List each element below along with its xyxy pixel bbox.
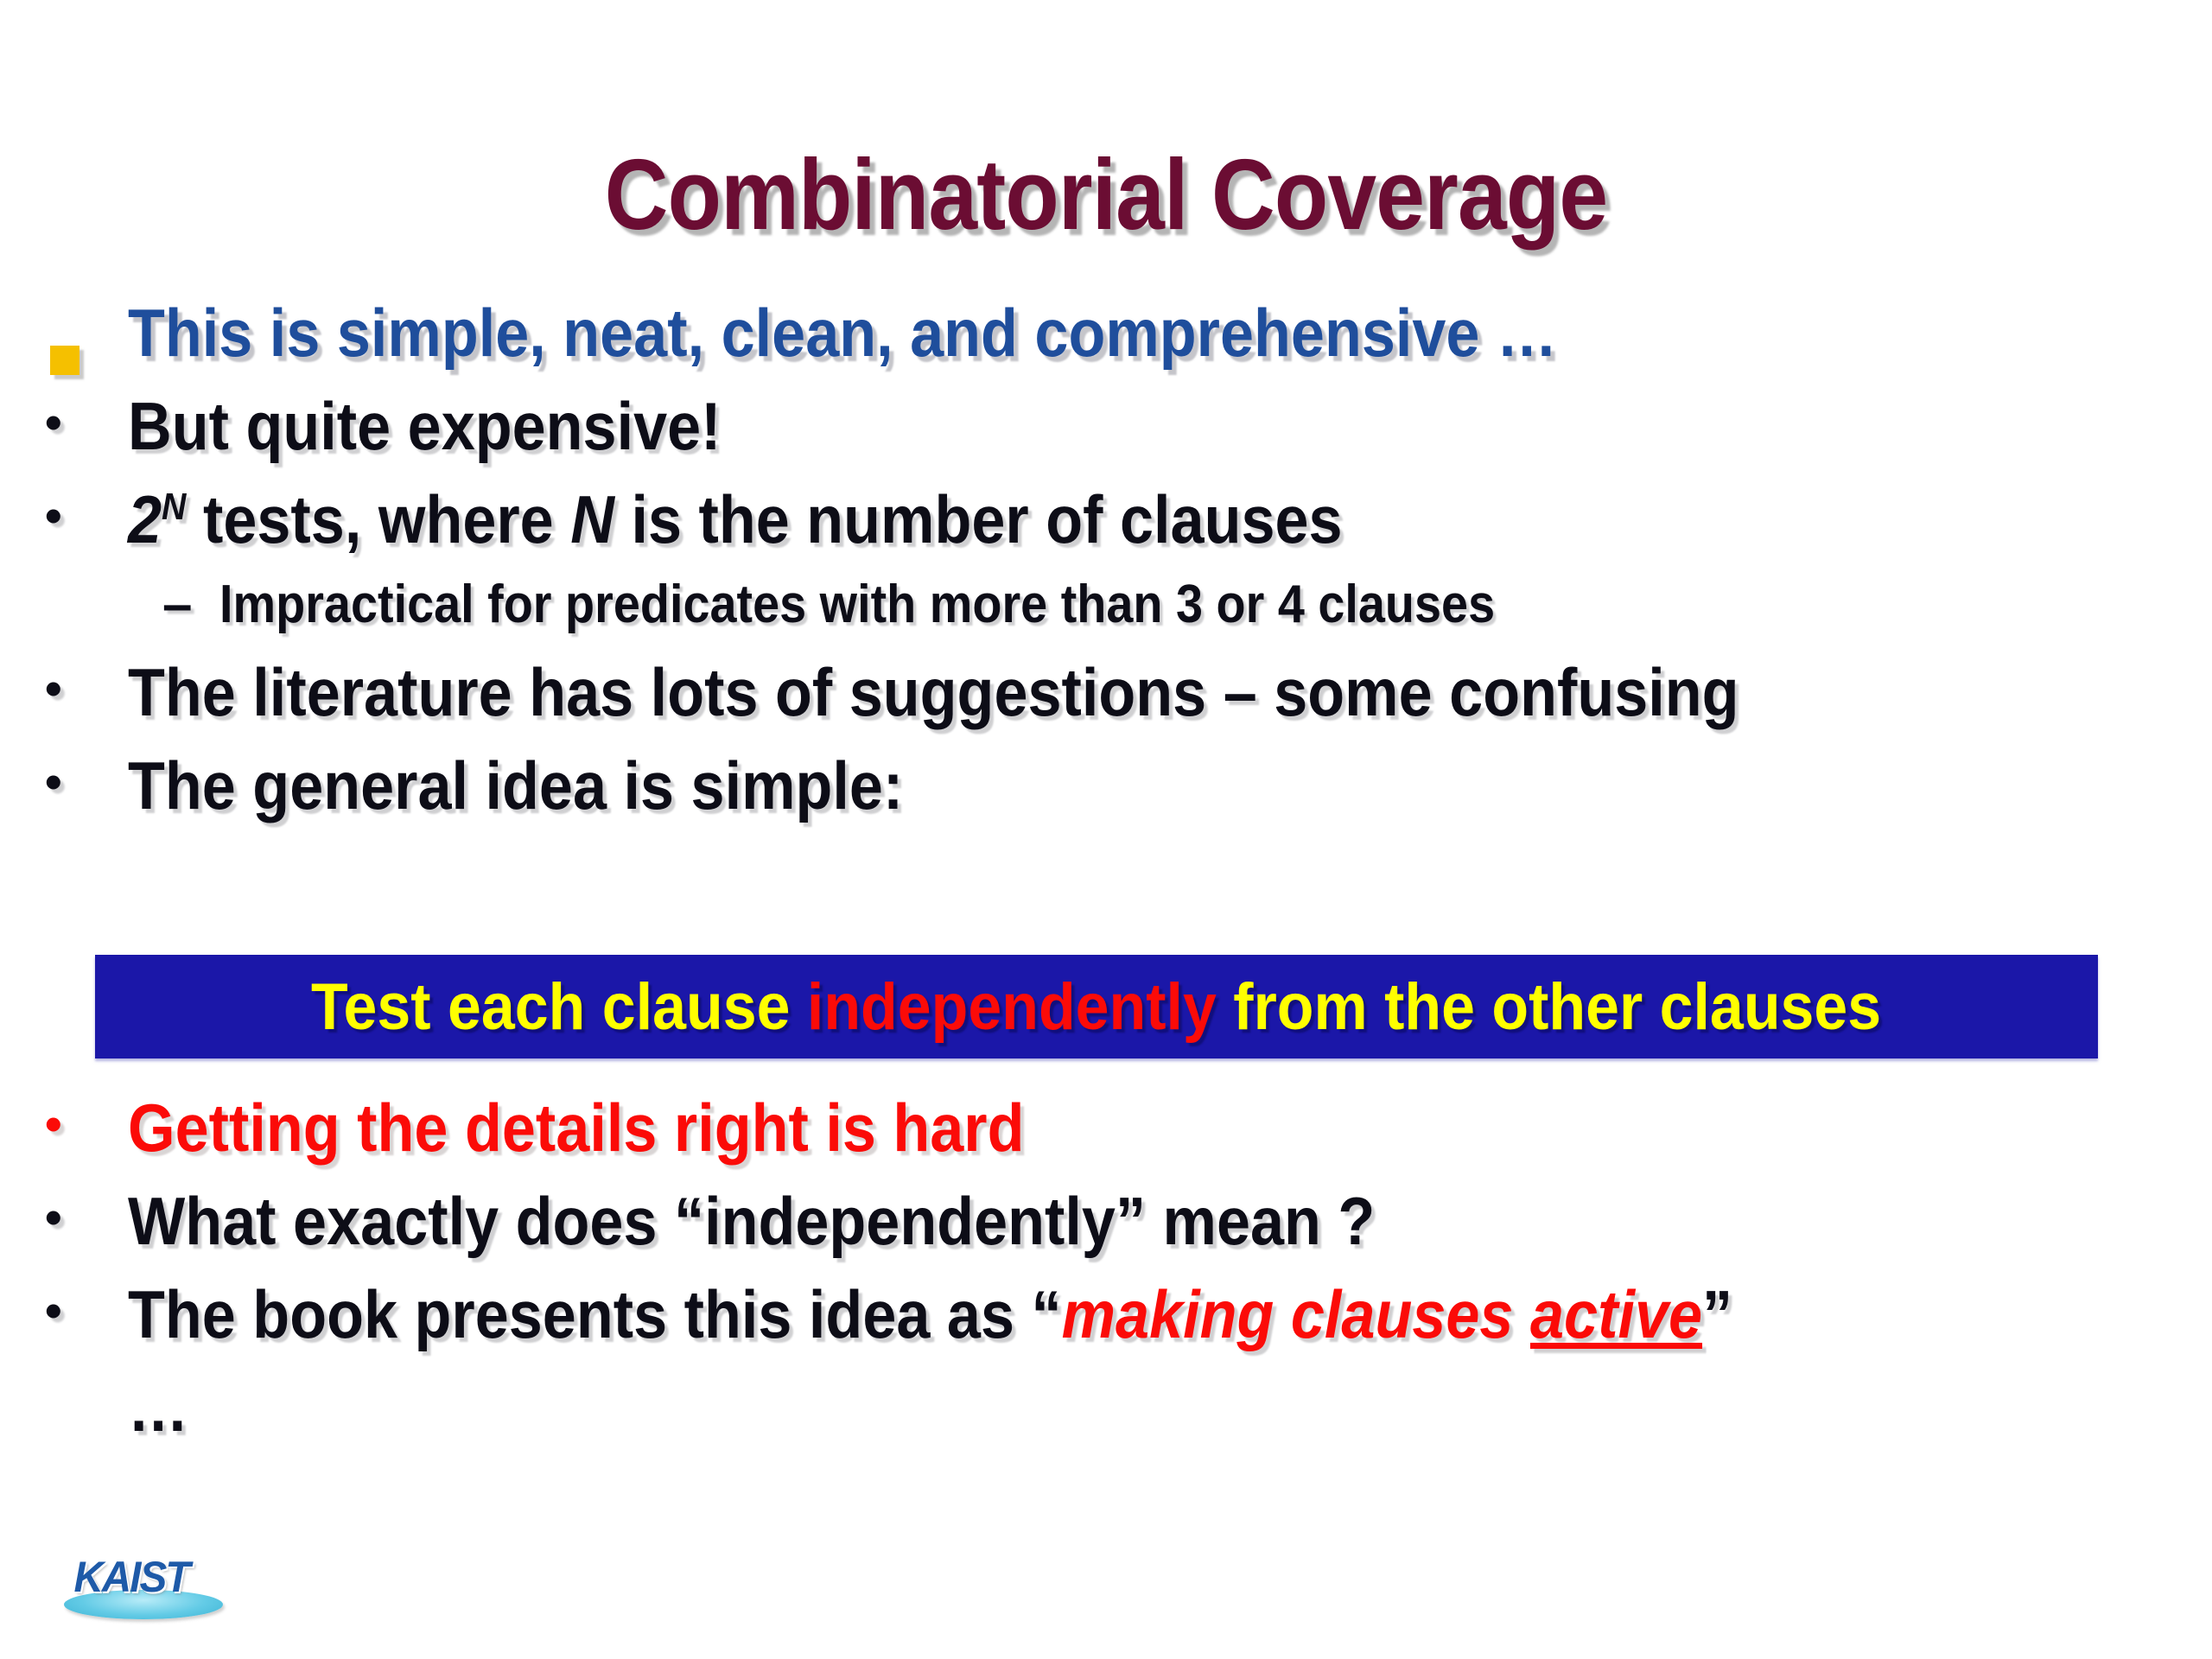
book-prefix: The book presents this idea as “ <box>128 1276 1062 1352</box>
dash-bullet-icon: – <box>162 574 219 635</box>
round-bullet-icon: • <box>45 1101 128 1147</box>
bullet-expensive: • But quite expensive! <box>0 387 2212 480</box>
round-bullet-icon: • <box>45 1287 128 1333</box>
bullet-impractical: – Impractical for predicates with more t… <box>0 574 2212 653</box>
slide-canvas: Combinatorial Coverage This is simple, n… <box>0 0 2212 1659</box>
callout-suffix: from the other clauses <box>1217 970 1881 1044</box>
tests-mid: tests, where <box>186 481 570 557</box>
bullet-details-hard: • Getting the details right is hard <box>0 1089 2212 1182</box>
bullet-tests-count-label: 2N tests, where N is the number of claus… <box>128 480 1343 559</box>
page-title: Combinatorial Coverage <box>133 137 2080 252</box>
callout-prefix: Test each clause <box>311 970 807 1044</box>
bullet-trailing-ellipsis: … <box>0 1369 2212 1462</box>
bullet-tests-count: • 2N tests, where N is the number of cla… <box>0 480 2212 574</box>
spacer-above-callout <box>0 840 2212 919</box>
bullet-trailing-ellipsis-label: … <box>128 1369 188 1447</box>
bullet-literature-label: The literature has lots of suggestions –… <box>128 653 1739 732</box>
round-bullet-icon: • <box>45 759 128 804</box>
logo-wordmark: KAIST <box>74 1552 189 1602</box>
tests-base: 2 <box>128 481 162 557</box>
round-bullet-icon: • <box>45 493 128 538</box>
bullet-general-idea: • The general idea is simple: <box>0 747 2212 840</box>
bullet-level1-comprehensive: This is simple, neat, clean, and compreh… <box>0 294 2212 387</box>
round-bullet-icon: • <box>45 399 128 445</box>
tests-tail: is the number of clauses <box>614 481 1343 557</box>
bullet-level1-label: This is simple, neat, clean, and compreh… <box>128 294 1557 372</box>
square-marker-icon <box>50 313 128 391</box>
bullet-literature: • The literature has lots of suggestions… <box>0 653 2212 747</box>
tests-var: N <box>570 481 614 557</box>
bullet-expensive-label: But quite expensive! <box>128 387 721 466</box>
callout-text: Test each clause independently from the … <box>311 969 1881 1045</box>
bullet-book-presents: • The book presents this idea as “making… <box>0 1275 2212 1369</box>
kaist-logo: KAIST <box>62 1545 225 1631</box>
callout-keyword: independently <box>807 970 1217 1044</box>
bullet-details-hard-label: Getting the details right is hard <box>128 1089 1025 1167</box>
tests-exponent: N <box>162 486 186 528</box>
bullet-general-idea-label: The general idea is simple: <box>128 747 903 825</box>
bullet-what-independently-means-label: What exactly does “independently” mean ? <box>128 1182 1375 1261</box>
book-emphasis-underlined: active <box>1530 1276 1702 1352</box>
callout-box: Test each clause independently from the … <box>95 955 2098 1058</box>
bullet-impractical-label: Impractical for predicates with more tha… <box>219 574 1495 635</box>
book-suffix: ” <box>1702 1276 1732 1352</box>
bullet-book-presents-label: The book presents this idea as “making c… <box>128 1275 1732 1354</box>
book-emphasis: making clauses <box>1062 1276 1530 1352</box>
round-bullet-icon: • <box>45 665 128 711</box>
slide-body: This is simple, neat, clean, and compreh… <box>0 294 2212 1462</box>
bullet-what-independently-means: • What exactly does “independently” mean… <box>0 1182 2212 1275</box>
round-bullet-icon: • <box>45 1194 128 1240</box>
